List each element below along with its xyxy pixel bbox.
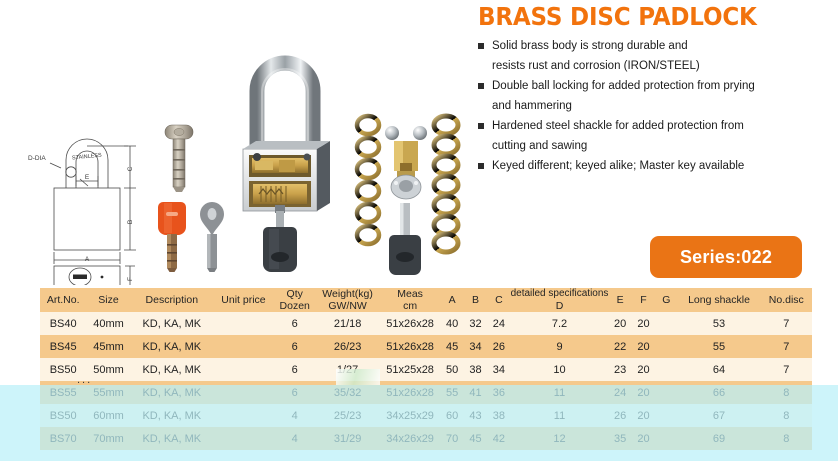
brass-ring-stack-left <box>357 116 379 244</box>
cell-qty: 4 <box>274 427 315 450</box>
cell-qty: 6 <box>274 381 315 404</box>
col-header-long-shackle: Long shackle <box>677 288 760 312</box>
label-e: E <box>85 174 90 181</box>
feature-text-line2: and hammering <box>492 96 838 116</box>
cell-d: 11 <box>511 381 609 404</box>
cell-meas: 51x26x28 <box>380 312 441 335</box>
cell-g <box>655 335 677 358</box>
feature-text-line2: cutting and sawing <box>492 136 838 156</box>
cell-qty: 4 <box>274 404 315 427</box>
product-spec-sheet: BRASS DISC PADLOCK Solid brass body is s… <box>0 0 838 461</box>
table-row: BS50 60mm KD, KA, MK 4 25/23 34x25x29 60… <box>40 404 812 427</box>
cell-e: 20 <box>608 312 631 335</box>
col-header-g-label: G <box>662 294 670 306</box>
cell-b: 34 <box>464 335 487 358</box>
cell-description: KD, KA, MK <box>131 427 213 450</box>
feature-item: Solid brass body is strong durable and r… <box>478 36 838 76</box>
table-body: BS40 40mm KD, KA, MK 6 21/18 51x26x28 40… <box>40 312 812 450</box>
col-header-c-label: C <box>495 294 503 306</box>
label-b: B <box>127 220 134 224</box>
cell-c: 26 <box>487 335 510 358</box>
cell-size: 55mm <box>86 381 130 404</box>
col-header-c: C <box>487 288 510 312</box>
cell-b: 38 <box>464 358 487 381</box>
cell-weight: 21/18 <box>315 312 379 335</box>
cell-meas: 51x26x28 <box>380 381 441 404</box>
col-header-f-label: F <box>640 294 646 306</box>
cell-f: 20 <box>632 381 655 404</box>
col-header-detailed-specifications: detailed specifications D <box>511 288 609 312</box>
cell-weight: 31/29 <box>315 427 379 450</box>
cell-art-no: BS50 <box>40 358 86 381</box>
col-header-size: Size <box>86 288 130 312</box>
cell-unit-price <box>213 427 274 450</box>
col-header-e: E <box>608 288 631 312</box>
cell-e: 22 <box>608 335 631 358</box>
cell-size: 40mm <box>86 312 130 335</box>
cell-e: 23 <box>608 358 631 381</box>
cell-f: 20 <box>632 312 655 335</box>
cell-long-shackle: 67 <box>677 404 760 427</box>
cell-f: 20 <box>632 427 655 450</box>
feature-item: Hardened steel shackle for added protect… <box>478 116 838 156</box>
col-header-detailed-label: detailed specifications <box>511 288 609 300</box>
cell-b: 41 <box>464 381 487 404</box>
cell-d: 9 <box>511 335 609 358</box>
cell-d: 12 <box>511 427 609 450</box>
brass-key-photo <box>162 123 196 195</box>
label-a: A <box>85 256 90 263</box>
col-header-e-label: E <box>617 294 624 306</box>
cell-art-no: BS45 <box>40 335 86 358</box>
table-row: BS55 55mm KD, KA, MK 6 35/32 51x26x28 55… <box>40 381 812 404</box>
table-header-row: Art.No. Size Description Unit price Qty … <box>40 288 812 312</box>
padlock-components-photo <box>350 107 470 287</box>
technical-drawing: D-DIA STAINLESS A B C E F <box>28 130 168 285</box>
cell-no-disc: 8 <box>761 404 812 427</box>
cell-unit-price <box>213 381 274 404</box>
cell-size: 60mm <box>86 404 130 427</box>
col-header-unit-price: Unit price <box>213 288 274 312</box>
col-header-weight-main: Weight(kg) <box>322 288 373 300</box>
col-header-description: Description <box>131 288 213 312</box>
chrome-cylinder-cap <box>391 175 421 199</box>
disc-tumbler-stack-right <box>434 116 458 252</box>
col-header-a: A <box>440 288 463 312</box>
cell-no-disc: 8 <box>761 381 812 404</box>
cell-c: 38 <box>487 404 510 427</box>
label-c: C <box>127 166 134 171</box>
cell-long-shackle: 53 <box>677 312 760 335</box>
cell-e: 24 <box>608 381 631 404</box>
cell-g <box>655 312 677 335</box>
brass-cylinder-plug <box>394 141 418 179</box>
cell-a: 70 <box>440 427 463 450</box>
col-header-meas-main: Meas <box>397 288 423 300</box>
orange-capped-key-photo <box>158 200 186 276</box>
col-header-b: B <box>464 288 487 312</box>
cell-f: 20 <box>632 335 655 358</box>
feature-item: Keyed different; keyed alike; Master key… <box>478 156 838 176</box>
loose-key-photo <box>389 203 421 275</box>
cell-qty: 6 <box>274 335 315 358</box>
page-title: BRASS DISC PADLOCK <box>478 2 757 31</box>
cell-size: 45mm <box>86 335 130 358</box>
cell-b: 43 <box>464 404 487 427</box>
col-header-qty-main: Qty <box>287 288 303 300</box>
feature-text-line1: Keyed different; keyed alike; Master key… <box>492 160 744 172</box>
padlock-dimension-diagram: D-DIA STAINLESS A B C E F <box>28 130 168 285</box>
cell-meas: 34x25x29 <box>380 404 441 427</box>
cell-long-shackle: 66 <box>677 381 760 404</box>
cell-art-no: BS70 <box>40 427 86 450</box>
col-header-qty-sub: Dozen <box>274 300 315 312</box>
cell-a: 40 <box>440 312 463 335</box>
cell-a: 55 <box>440 381 463 404</box>
feature-text-line2: resists rust and corrosion (IRON/STEEL) <box>492 56 838 76</box>
cell-b: 32 <box>464 312 487 335</box>
cell-e: 35 <box>608 427 631 450</box>
cell-art-no: BS40 <box>40 312 86 335</box>
table-row: BS70 70mm KD, KA, MK 4 31/29 34x26x29 70… <box>40 427 812 450</box>
col-header-weight: Weight(kg) GW/NW <box>315 288 379 312</box>
cell-size: 50mm <box>86 358 130 381</box>
cell-meas: 51x25x28 <box>380 358 441 381</box>
feature-text-line1: Hardened steel shackle for added protect… <box>492 120 744 132</box>
table-row: BS45 45mm KD, KA, MK 6 26/23 51x26x28 45… <box>40 335 812 358</box>
cell-f: 20 <box>632 404 655 427</box>
cell-weight: 25/23 <box>315 404 379 427</box>
cell-long-shackle: 64 <box>677 358 760 381</box>
feature-text-line1: Double ball locking for added protection… <box>492 80 755 92</box>
table-row: BS50 50mm KD, KA, MK 6 1/27 51x25x28 50 … <box>40 358 812 381</box>
cell-size: 70mm <box>86 427 130 450</box>
cell-art-no: BS50 <box>40 404 86 427</box>
col-header-meas: Meas cm <box>380 288 441 312</box>
col-header-d-label: D <box>556 300 564 312</box>
cell-b: 45 <box>464 427 487 450</box>
cell-unit-price <box>213 312 274 335</box>
cell-description: KD, KA, MK <box>131 358 213 381</box>
cell-unit-price <box>213 404 274 427</box>
cell-c: 42 <box>487 427 510 450</box>
cell-c: 24 <box>487 312 510 335</box>
col-header-g: G <box>655 288 677 312</box>
feature-text-line1: Solid brass body is strong durable and <box>492 40 688 52</box>
cell-no-disc: 7 <box>761 358 812 381</box>
cell-long-shackle: 69 <box>677 427 760 450</box>
series-badge: Series:022 <box>650 236 802 278</box>
specifications-table: Art.No. Size Description Unit price Qty … <box>40 288 812 450</box>
cell-f: 20 <box>632 358 655 381</box>
cell-description: KD, KA, MK <box>131 381 213 404</box>
cell-a: 45 <box>440 335 463 358</box>
cell-weight: 26/23 <box>315 335 379 358</box>
cell-qty: 6 <box>274 312 315 335</box>
col-header-meas-sub: cm <box>380 300 441 312</box>
col-header-f: F <box>632 288 655 312</box>
cell-description: KD, KA, MK <box>131 335 213 358</box>
col-header-qty: Qty Dozen <box>274 288 315 312</box>
cell-no-disc: 7 <box>761 335 812 358</box>
cell-a: 50 <box>440 358 463 381</box>
grey-key-photo <box>198 200 226 276</box>
cell-unit-price <box>213 335 274 358</box>
cell-g <box>655 358 677 381</box>
cell-d: 11 <box>511 404 609 427</box>
steel-ball-1 <box>385 126 399 140</box>
col-header-a-label: A <box>449 294 456 306</box>
cell-g <box>655 427 677 450</box>
cell-long-shackle: 55 <box>677 335 760 358</box>
cell-g <box>655 404 677 427</box>
cell-description: KD, KA, MK <box>131 312 213 335</box>
feature-list: Solid brass body is strong durable and r… <box>478 36 838 176</box>
cell-weight: 35/32 <box>315 381 379 404</box>
steel-ball-2 <box>413 126 427 140</box>
cell-e: 26 <box>608 404 631 427</box>
cell-a: 60 <box>440 404 463 427</box>
cell-d: 7.2 <box>511 312 609 335</box>
series-badge-label: Series:022 <box>680 247 772 268</box>
col-header-b-label: B <box>472 294 479 306</box>
cell-meas: 34x26x29 <box>380 427 441 450</box>
cell-d: 10 <box>511 358 609 381</box>
cell-g <box>655 381 677 404</box>
cell-weight: 1/27 <box>315 358 379 381</box>
cell-description: KD, KA, MK <box>131 404 213 427</box>
table-header: Art.No. Size Description Unit price Qty … <box>40 288 812 312</box>
cell-no-disc: 7 <box>761 312 812 335</box>
cell-meas: 51x26x28 <box>380 335 441 358</box>
col-header-no-disc: No.disc <box>761 288 812 312</box>
label-f: F <box>127 277 134 281</box>
col-header-weight-sub: GW/NW <box>315 300 379 312</box>
col-header-art-no: Art.No. <box>40 288 86 312</box>
table-row: BS40 40mm KD, KA, MK 6 21/18 51x26x28 40… <box>40 312 812 335</box>
cell-art-no: BS55 <box>40 381 86 404</box>
cell-no-disc: 8 <box>761 427 812 450</box>
product-photo-group <box>150 45 480 290</box>
label-d-dia: D-DIA <box>28 155 46 162</box>
cell-c: 34 <box>487 358 510 381</box>
padlock-cutaway-photo <box>235 45 340 285</box>
cell-qty: 6 <box>274 358 315 381</box>
feature-item: Double ball locking for added protection… <box>478 76 838 116</box>
cell-c: 36 <box>487 381 510 404</box>
cell-unit-price <box>213 358 274 381</box>
